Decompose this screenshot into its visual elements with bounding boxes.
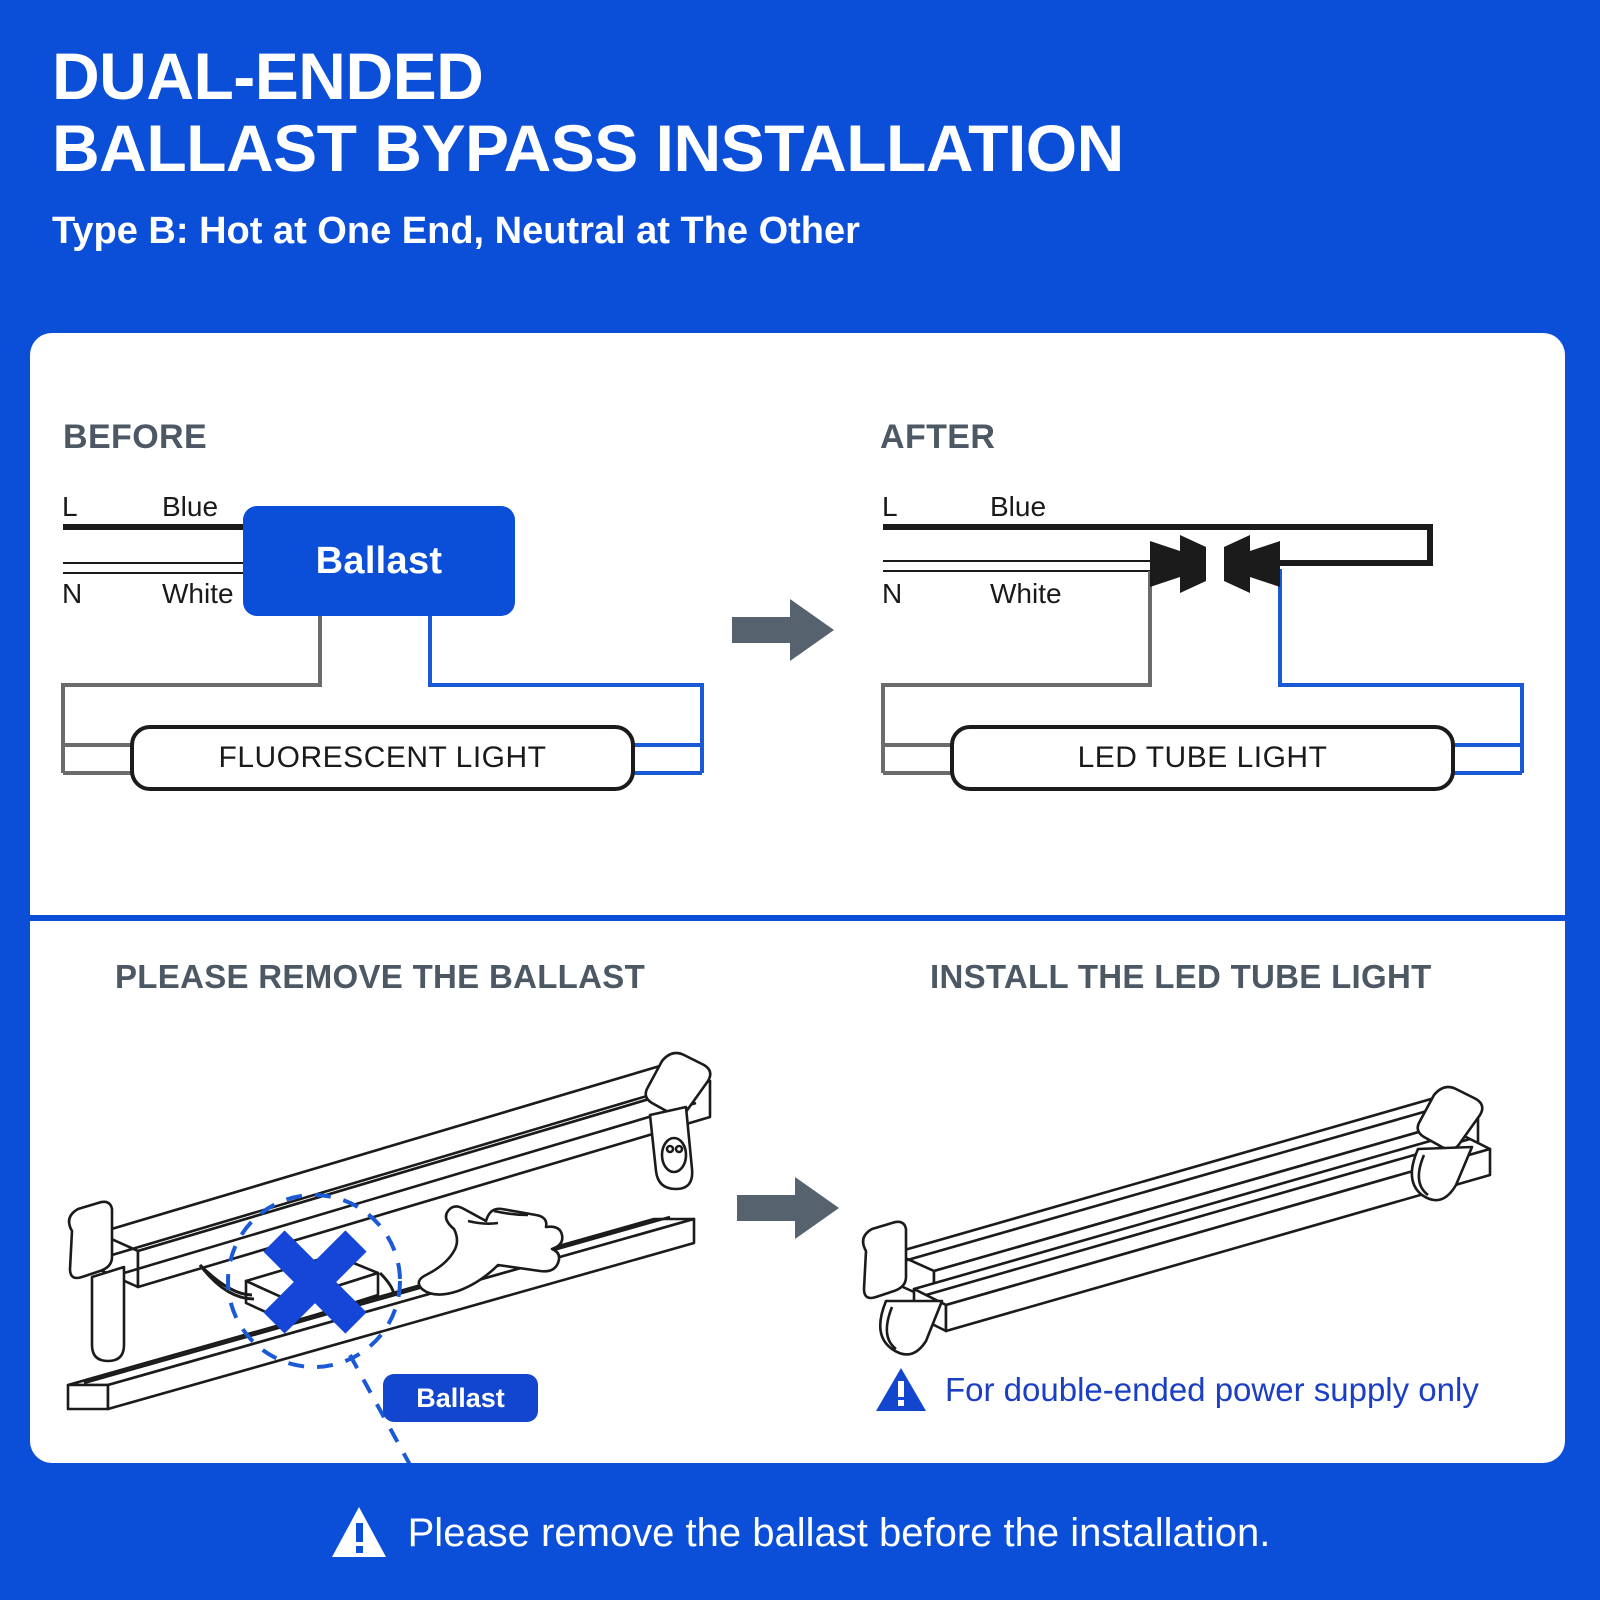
arrow-right-icon-bottom: [735, 1173, 845, 1243]
before-wiring-diagram: L Blue N White Ballast FLUORESCENT L: [30, 463, 750, 903]
content-card: BEFORE L Blue N White Ballast: [30, 333, 1565, 1463]
after-title: AFTER: [880, 418, 995, 457]
install-led-title: INSTALL THE LED TUBE LIGHT: [930, 958, 1432, 996]
page-subtitle: Type B: Hot at One End, Neutral at The O…: [52, 210, 1552, 252]
panel-divider: [30, 915, 1565, 921]
page-title: DUAL-ENDED BALLAST BYPASS INSTALLATION: [52, 40, 1552, 184]
warning-triangle-icon: [875, 1366, 927, 1414]
footer-text: Please remove the ballast before the ins…: [408, 1511, 1271, 1556]
wire-connector-right-icon: [1224, 535, 1280, 593]
fluorescent-fixture-illustration: [50, 1033, 750, 1423]
title-line-1: DUAL-ENDED: [52, 39, 483, 113]
led-tube-fixture-illustration: [830, 1033, 1530, 1333]
led-tube-light-box: LED TUBE LIGHT: [950, 725, 1455, 791]
title-line-2: BALLAST BYPASS INSTALLATION: [52, 112, 1552, 184]
double-ended-note: For double-ended power supply only: [875, 1366, 1479, 1414]
after-wire-paths: [850, 463, 1565, 903]
header: DUAL-ENDED BALLAST BYPASS INSTALLATION T…: [52, 40, 1552, 252]
warning-triangle-icon-footer: [330, 1505, 388, 1561]
before-title: BEFORE: [63, 418, 207, 457]
fluorescent-light-box: FLUORESCENT LIGHT: [130, 725, 635, 791]
after-wiring-diagram: L Blue N White: [850, 463, 1565, 903]
infographic-root: DUAL-ENDED BALLAST BYPASS INSTALLATION T…: [0, 0, 1600, 1600]
remove-ballast-title: PLEASE REMOVE THE BALLAST: [115, 958, 645, 996]
double-ended-note-text: For double-ended power supply only: [945, 1371, 1479, 1409]
wire-connector-left-icon: [1150, 535, 1206, 593]
ballast-badge: Ballast: [243, 506, 515, 616]
ballast-callout-badge: Ballast: [383, 1374, 538, 1422]
footer-banner: Please remove the ballast before the ins…: [0, 1478, 1600, 1588]
arrow-right-icon-top: [730, 595, 840, 665]
